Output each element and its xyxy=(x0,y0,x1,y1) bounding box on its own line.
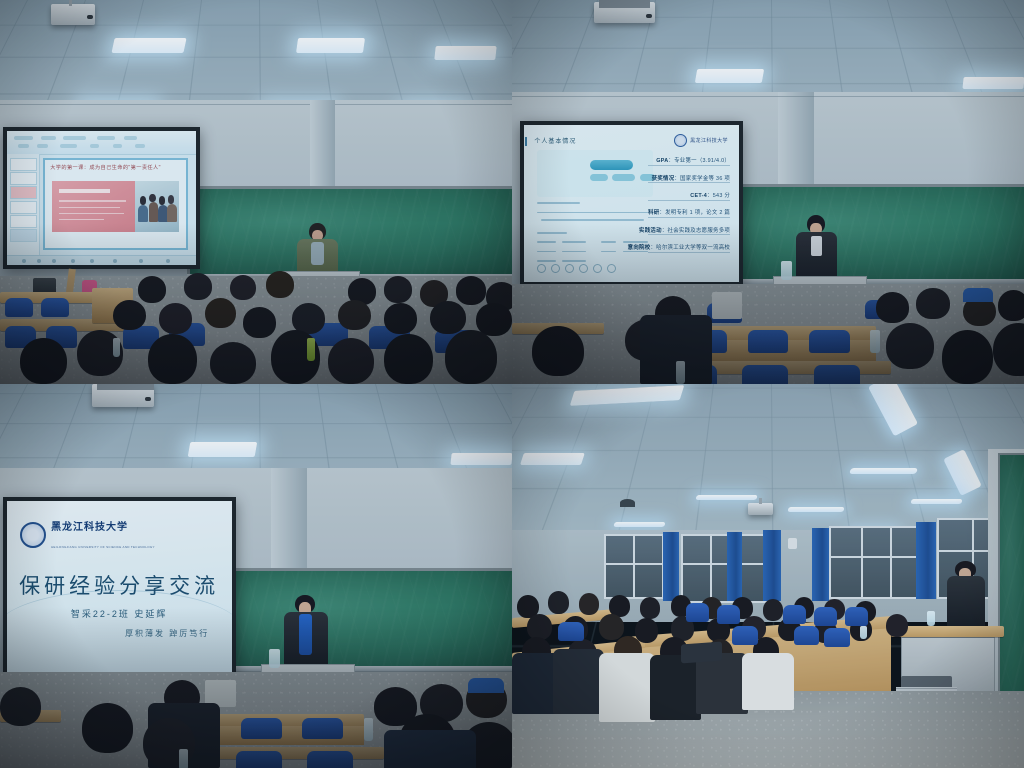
chair xyxy=(824,628,850,647)
ceiling-light xyxy=(450,453,512,465)
ceiling-light xyxy=(434,46,497,60)
ceiling-light xyxy=(520,453,585,465)
ceiling-light xyxy=(695,69,764,83)
wall-pillar xyxy=(310,100,336,200)
water-bottle xyxy=(307,338,315,361)
slide-bullet: GPA：专业第一（3.91/4.0） xyxy=(656,156,730,164)
slide-bullet: 获奖情况：国家奖学金等 36 项 xyxy=(652,174,730,182)
ceiling-light xyxy=(614,522,666,527)
collage-panel-bottom-right xyxy=(512,384,1024,768)
slide-icon xyxy=(593,264,602,273)
slide-photo-block xyxy=(52,181,140,232)
wall-phone xyxy=(788,538,796,550)
student-jacket xyxy=(599,653,655,722)
scene-lecture-hall-side xyxy=(512,384,1024,768)
slide-bullet: 实践活动：社会实践及志愿服务多项 xyxy=(639,226,730,234)
collage-panel-bottom-left: 黑龙江科技大学 HEILONGJIANG UNIVERSITY OF SCIEN… xyxy=(0,384,512,768)
chair xyxy=(5,298,33,317)
student-jacket xyxy=(650,655,701,720)
water-bottle xyxy=(364,718,373,741)
chair xyxy=(732,626,758,645)
student-jacket xyxy=(384,730,476,768)
slide-subtitle: 智采22-2班 史延辉 xyxy=(7,607,232,620)
student-jacket xyxy=(696,653,747,714)
projector-screen: 个人基本情况 黑龙江科技大学 xyxy=(520,121,743,286)
chair xyxy=(783,605,806,624)
chair xyxy=(686,603,709,622)
slide-icon xyxy=(579,264,588,273)
scene-lecture-hall-front-2: 个人基本情况 黑龙江科技大学 xyxy=(512,0,1024,384)
university-name-en: HEILONGJIANG UNIVERSITY OF SCIENCE AND T… xyxy=(51,545,155,549)
slide-photo-group xyxy=(135,181,179,232)
window xyxy=(604,534,664,599)
presenter-shirt xyxy=(299,614,312,655)
chair xyxy=(814,607,837,626)
window-curtain xyxy=(916,522,935,599)
baseball-cap xyxy=(963,288,994,302)
dome-camera xyxy=(620,499,635,507)
window-curtain xyxy=(763,530,781,601)
university-name: 黑龙江科技大学 xyxy=(690,137,728,144)
ceiling-light xyxy=(188,442,257,457)
water-bottle xyxy=(269,649,280,668)
slide-bullet: 意向院校：哈尔滨工业大学等双一流高校 xyxy=(628,243,730,251)
slide-bullet: CET-4：543 分 xyxy=(690,191,730,199)
chair xyxy=(236,751,282,768)
slide-header-text: 个人基本情况 xyxy=(534,136,576,145)
laptop-bag xyxy=(681,642,722,664)
slide-icon-row xyxy=(537,264,616,273)
chair xyxy=(794,626,820,645)
window-curtain xyxy=(812,528,830,601)
slide-icon xyxy=(537,264,546,273)
water-bottle xyxy=(870,330,879,353)
ceiling-projector xyxy=(748,503,774,515)
projector-mount xyxy=(97,384,153,390)
slide-icon xyxy=(607,264,616,273)
ceiling-light xyxy=(911,499,963,504)
presenter-person xyxy=(284,595,328,668)
university-emblem-icon xyxy=(674,134,687,147)
chair xyxy=(241,718,282,739)
ceiling-light xyxy=(696,495,759,500)
water-bottle xyxy=(781,261,792,280)
chair xyxy=(814,365,860,384)
ceiling-light xyxy=(296,38,365,53)
window xyxy=(829,526,920,599)
slide-title-text: 大学的第一课：成为自己生命的"第一责任人" xyxy=(50,164,181,171)
window-curtain xyxy=(663,532,679,601)
student-jacket xyxy=(742,653,793,711)
university-logo: 黑龙江科技大学 xyxy=(674,134,728,147)
projector-mount xyxy=(599,0,650,8)
slide-signature: 厚积薄发 踔厉笃行 xyxy=(125,628,209,639)
ceiling-projector xyxy=(51,4,95,25)
slide-icon xyxy=(551,264,560,273)
ceiling-light xyxy=(111,38,186,53)
scene-title-slide-view: 黑龙江科技大学 HEILONGJIANG UNIVERSITY OF SCIEN… xyxy=(0,384,512,768)
chair xyxy=(845,607,868,626)
window-curtain xyxy=(727,532,742,601)
water-bottle xyxy=(113,338,121,357)
chalkboard xyxy=(187,186,512,280)
window xyxy=(681,534,767,603)
photo-collage: 大学的第一课：成为自己生命的"第一责任人" xyxy=(0,0,1024,768)
collage-panel-top-right: 个人基本情况 黑龙江科技大学 xyxy=(512,0,1024,384)
projector-screen: 黑龙江科技大学 HEILONGJIANG UNIVERSITY OF SCIEN… xyxy=(3,497,236,676)
projector-screen: 大学的第一课：成为自己生命的"第一责任人" xyxy=(3,127,200,269)
chair xyxy=(302,718,343,739)
water-bottle xyxy=(676,361,685,384)
slide-main-title: 保研经验分享交流 xyxy=(7,570,232,600)
chalkboard-side xyxy=(998,453,1024,726)
chair xyxy=(742,365,788,384)
chair xyxy=(41,298,69,317)
chair xyxy=(748,330,789,353)
baseball-cap xyxy=(468,678,504,693)
water-bottle xyxy=(179,749,188,768)
ceiling-light xyxy=(849,468,918,474)
university-logo: 黑龙江科技大学 HEILONGJIANG UNIVERSITY OF SCIEN… xyxy=(20,517,155,553)
slide-title-page: 黑龙江科技大学 HEILONGJIANG UNIVERSITY OF SCIEN… xyxy=(7,501,232,672)
water-bottle xyxy=(860,626,867,639)
student-jacket xyxy=(553,649,604,714)
university-name-cn: 黑龙江科技大学 xyxy=(51,522,128,533)
presenter-person xyxy=(796,215,837,284)
slide-powerpoint-editor: 大学的第一课：成为自己生命的"第一责任人" xyxy=(7,131,196,265)
university-emblem-icon xyxy=(20,522,46,548)
water-bottle xyxy=(927,611,935,626)
chair xyxy=(717,605,740,624)
slide-bullet: 科研：发明专利 1 项，论文 2 篇 xyxy=(648,208,730,216)
scene-lecture-hall-front: 大学的第一课：成为自己生命的"第一责任人" xyxy=(0,0,512,384)
ceiling-light xyxy=(962,77,1024,89)
slide-personal-info: 个人基本情况 黑龙江科技大学 xyxy=(524,125,739,282)
chair xyxy=(307,751,353,768)
side-chair xyxy=(712,292,743,319)
ceiling-light xyxy=(788,507,846,512)
collage-panel-top-left: 大学的第一课：成为自己生命的"第一责任人" xyxy=(0,0,512,384)
slide-icon xyxy=(565,264,574,273)
chair xyxy=(809,330,850,353)
chair xyxy=(558,622,584,641)
